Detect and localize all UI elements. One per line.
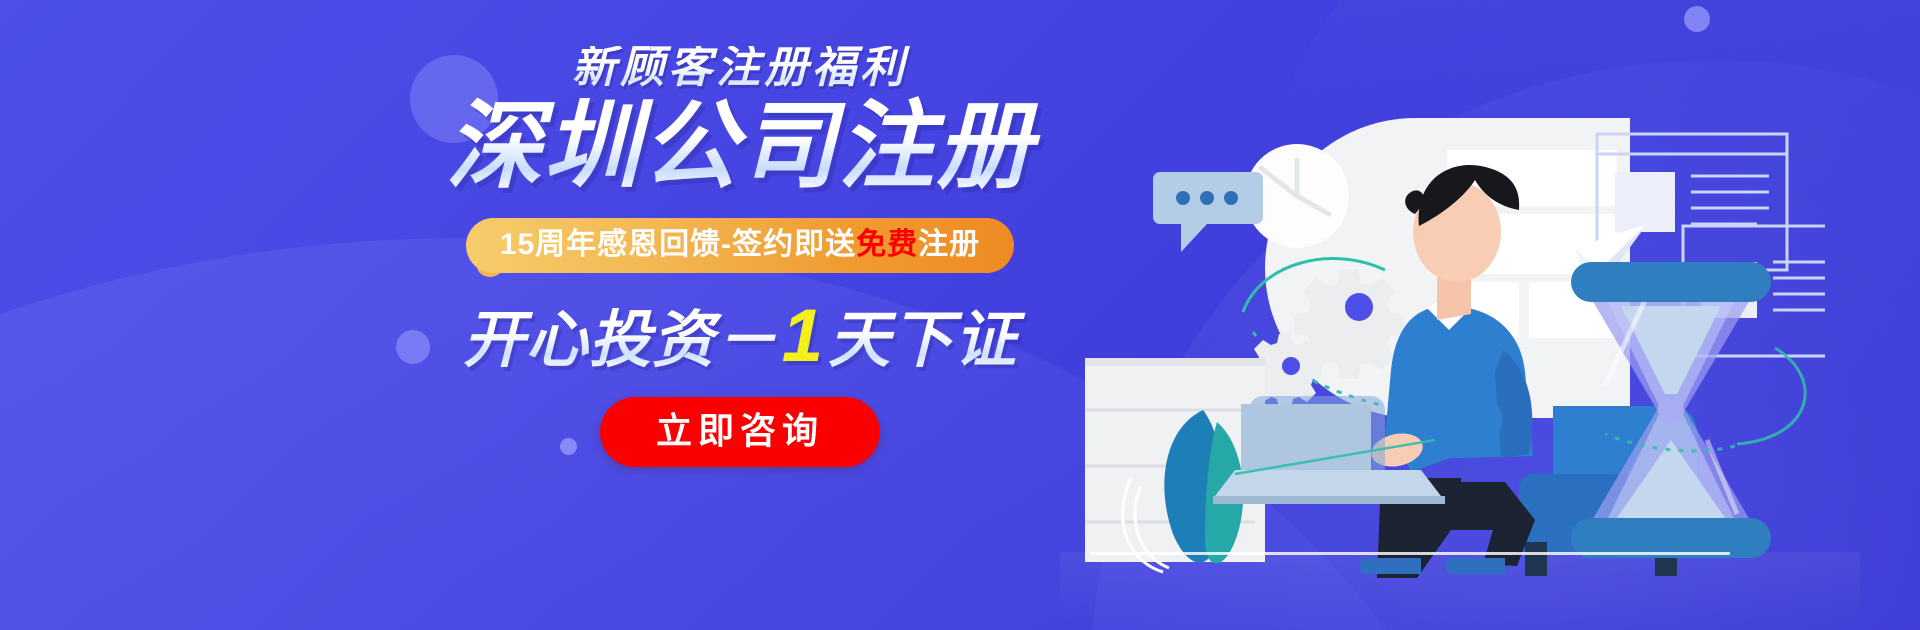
- promo-pill-wrap: 15周年感恩回馈-签约即送免费注册: [395, 218, 1085, 273]
- slogan-text: 开心投资－1天下证: [395, 299, 1085, 373]
- speech-bubble-icon: [1153, 172, 1263, 252]
- consult-now-button[interactable]: 立即咨询: [600, 397, 880, 467]
- floor-line: [1090, 552, 1730, 555]
- promo-pill-suffix: 注册: [918, 228, 980, 261]
- promo-pill-highlight: 免费: [856, 228, 918, 261]
- copy-block: 新顾客注册福利 深圳公司注册 15周年感恩回馈-签约即送免费注册 开心投资－1天…: [395, 46, 1085, 467]
- slogan-after: 天下证: [828, 306, 1017, 375]
- decorative-circle-top-right: [1684, 6, 1710, 32]
- promo-pill-prefix: 15周年感恩回馈-签约即送: [500, 228, 856, 261]
- eyebrow-text: 新顾客注册福利: [395, 46, 1085, 90]
- hero-illustration: [1085, 110, 1825, 580]
- page-title: 深圳公司注册: [395, 96, 1085, 198]
- slogan-before: 开心投资－: [463, 306, 778, 375]
- promo-banner: 新顾客注册福利 深圳公司注册 15周年感恩回馈-签约即送免费注册 开心投资－1天…: [0, 0, 1920, 630]
- slogan-number: 1: [778, 294, 828, 377]
- promo-pill: 15周年感恩回馈-签约即送免费注册: [466, 218, 1014, 273]
- cta-wrap: 立即咨询: [395, 373, 1085, 467]
